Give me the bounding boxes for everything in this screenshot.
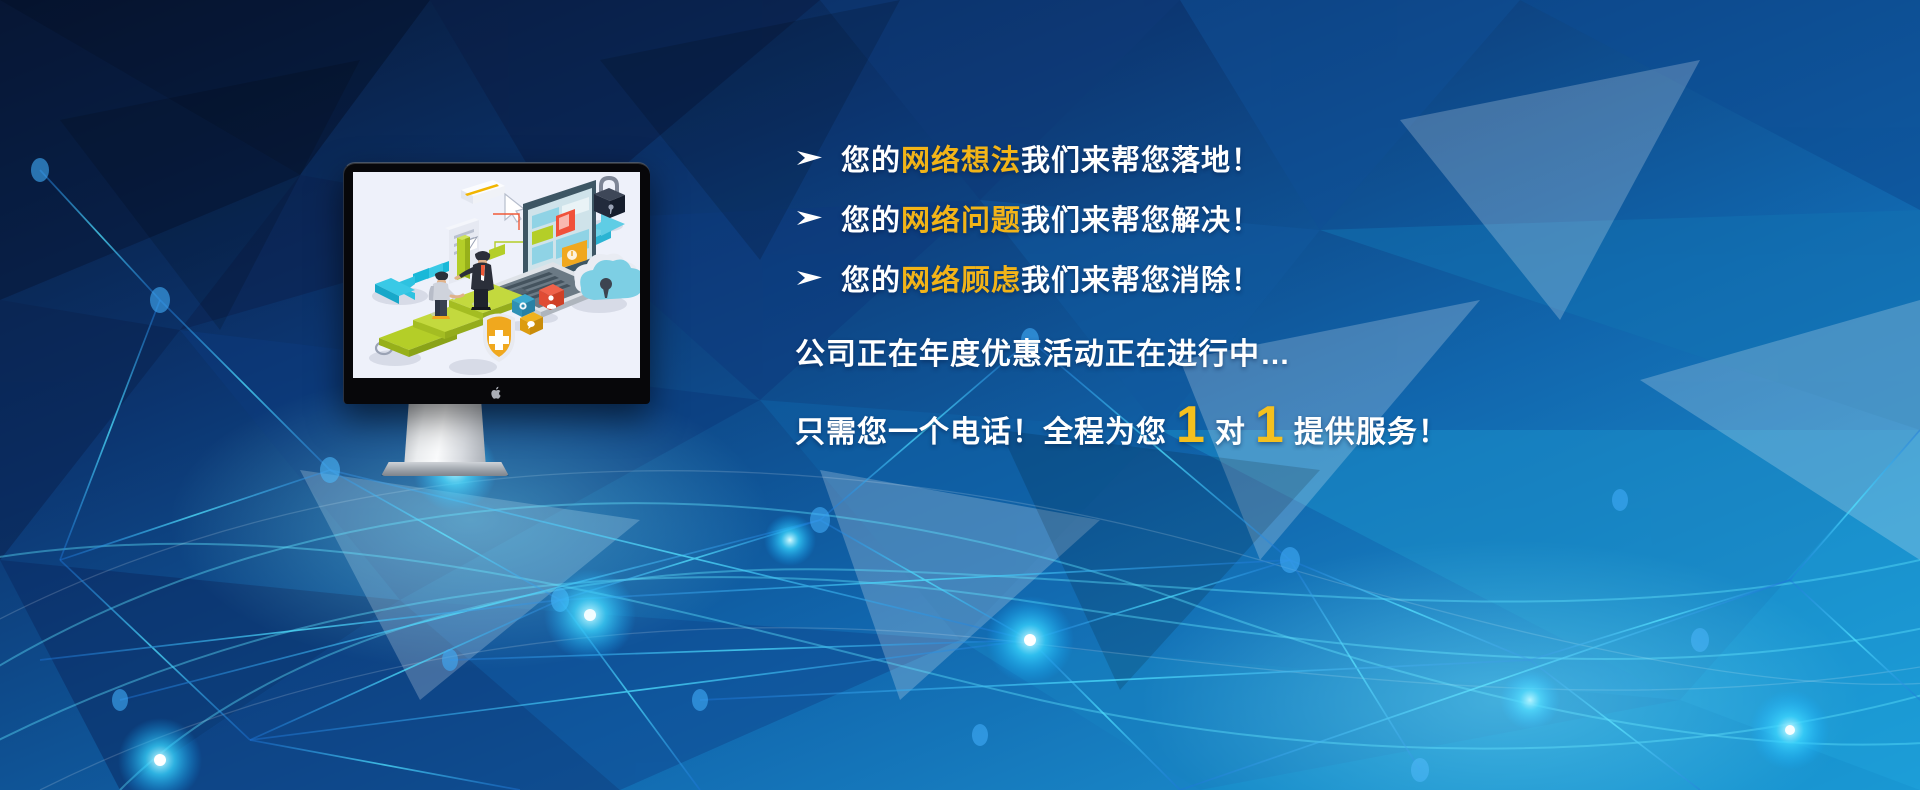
bullet-3-post: 我们来帮您消除！ [1021,265,1261,297]
bullet-2-highlight: 网络问题 [901,205,1021,237]
bullet-1-highlight: 网络想法 [901,145,1021,177]
arrow-bullet-icon [795,268,841,288]
cta-number-2: 1 [1246,405,1294,447]
bullet-row-1: 您的网络想法我们来帮您落地！ [795,128,1555,188]
desktop-monitor [343,162,650,404]
bullet-2-pre: 您的 [841,205,901,237]
promo-banner: 您的网络想法我们来帮您落地！ 您的网络问题我们来帮您解决！ 您的网络顾虑我们来帮… [0,0,1920,790]
monitor-screen [353,172,640,378]
bullet-text-2: 您的网络问题我们来帮您解决！ [841,197,1261,239]
headline-copy-block: 您的网络想法我们来帮您落地！ 您的网络问题我们来帮您解决！ 您的网络顾虑我们来帮… [795,128,1555,451]
cta-segment-1: 只需您一个电话！全程为您 [795,407,1167,451]
bullet-text-1: 您的网络想法我们来帮您落地！ [841,137,1261,179]
bullet-row-3: 您的网络顾虑我们来帮您消除！ [795,248,1555,308]
bullet-1-pre: 您的 [841,145,901,177]
cta-segment-2: 对 [1215,407,1246,451]
monitor-stand-neck [404,400,486,468]
cta-number-1: 1 [1167,405,1215,447]
bullet-1-post: 我们来帮您落地！ [1021,145,1261,177]
bullet-row-2: 您的网络问题我们来帮您解决！ [795,188,1555,248]
monitor-stand-foot [381,462,509,476]
bullet-text-3: 您的网络顾虑我们来帮您消除！ [841,257,1261,299]
arrow-bullet-icon [795,208,841,228]
arrow-bullet-icon [795,148,841,168]
bullet-2-post: 我们来帮您解决！ [1021,205,1261,237]
cta-segment-3: 提供服务！ [1294,407,1449,451]
apple-logo [491,386,503,400]
promo-line: 公司正在年度优惠活动正在进行中… [795,329,1555,373]
cta-line: 只需您一个电话！全程为您 1 对 1 提供服务！ [795,405,1555,451]
bullet-3-pre: 您的 [841,265,901,297]
bullet-3-highlight: 网络顾虑 [901,265,1021,297]
isometric-network-security-illustration [353,172,640,378]
